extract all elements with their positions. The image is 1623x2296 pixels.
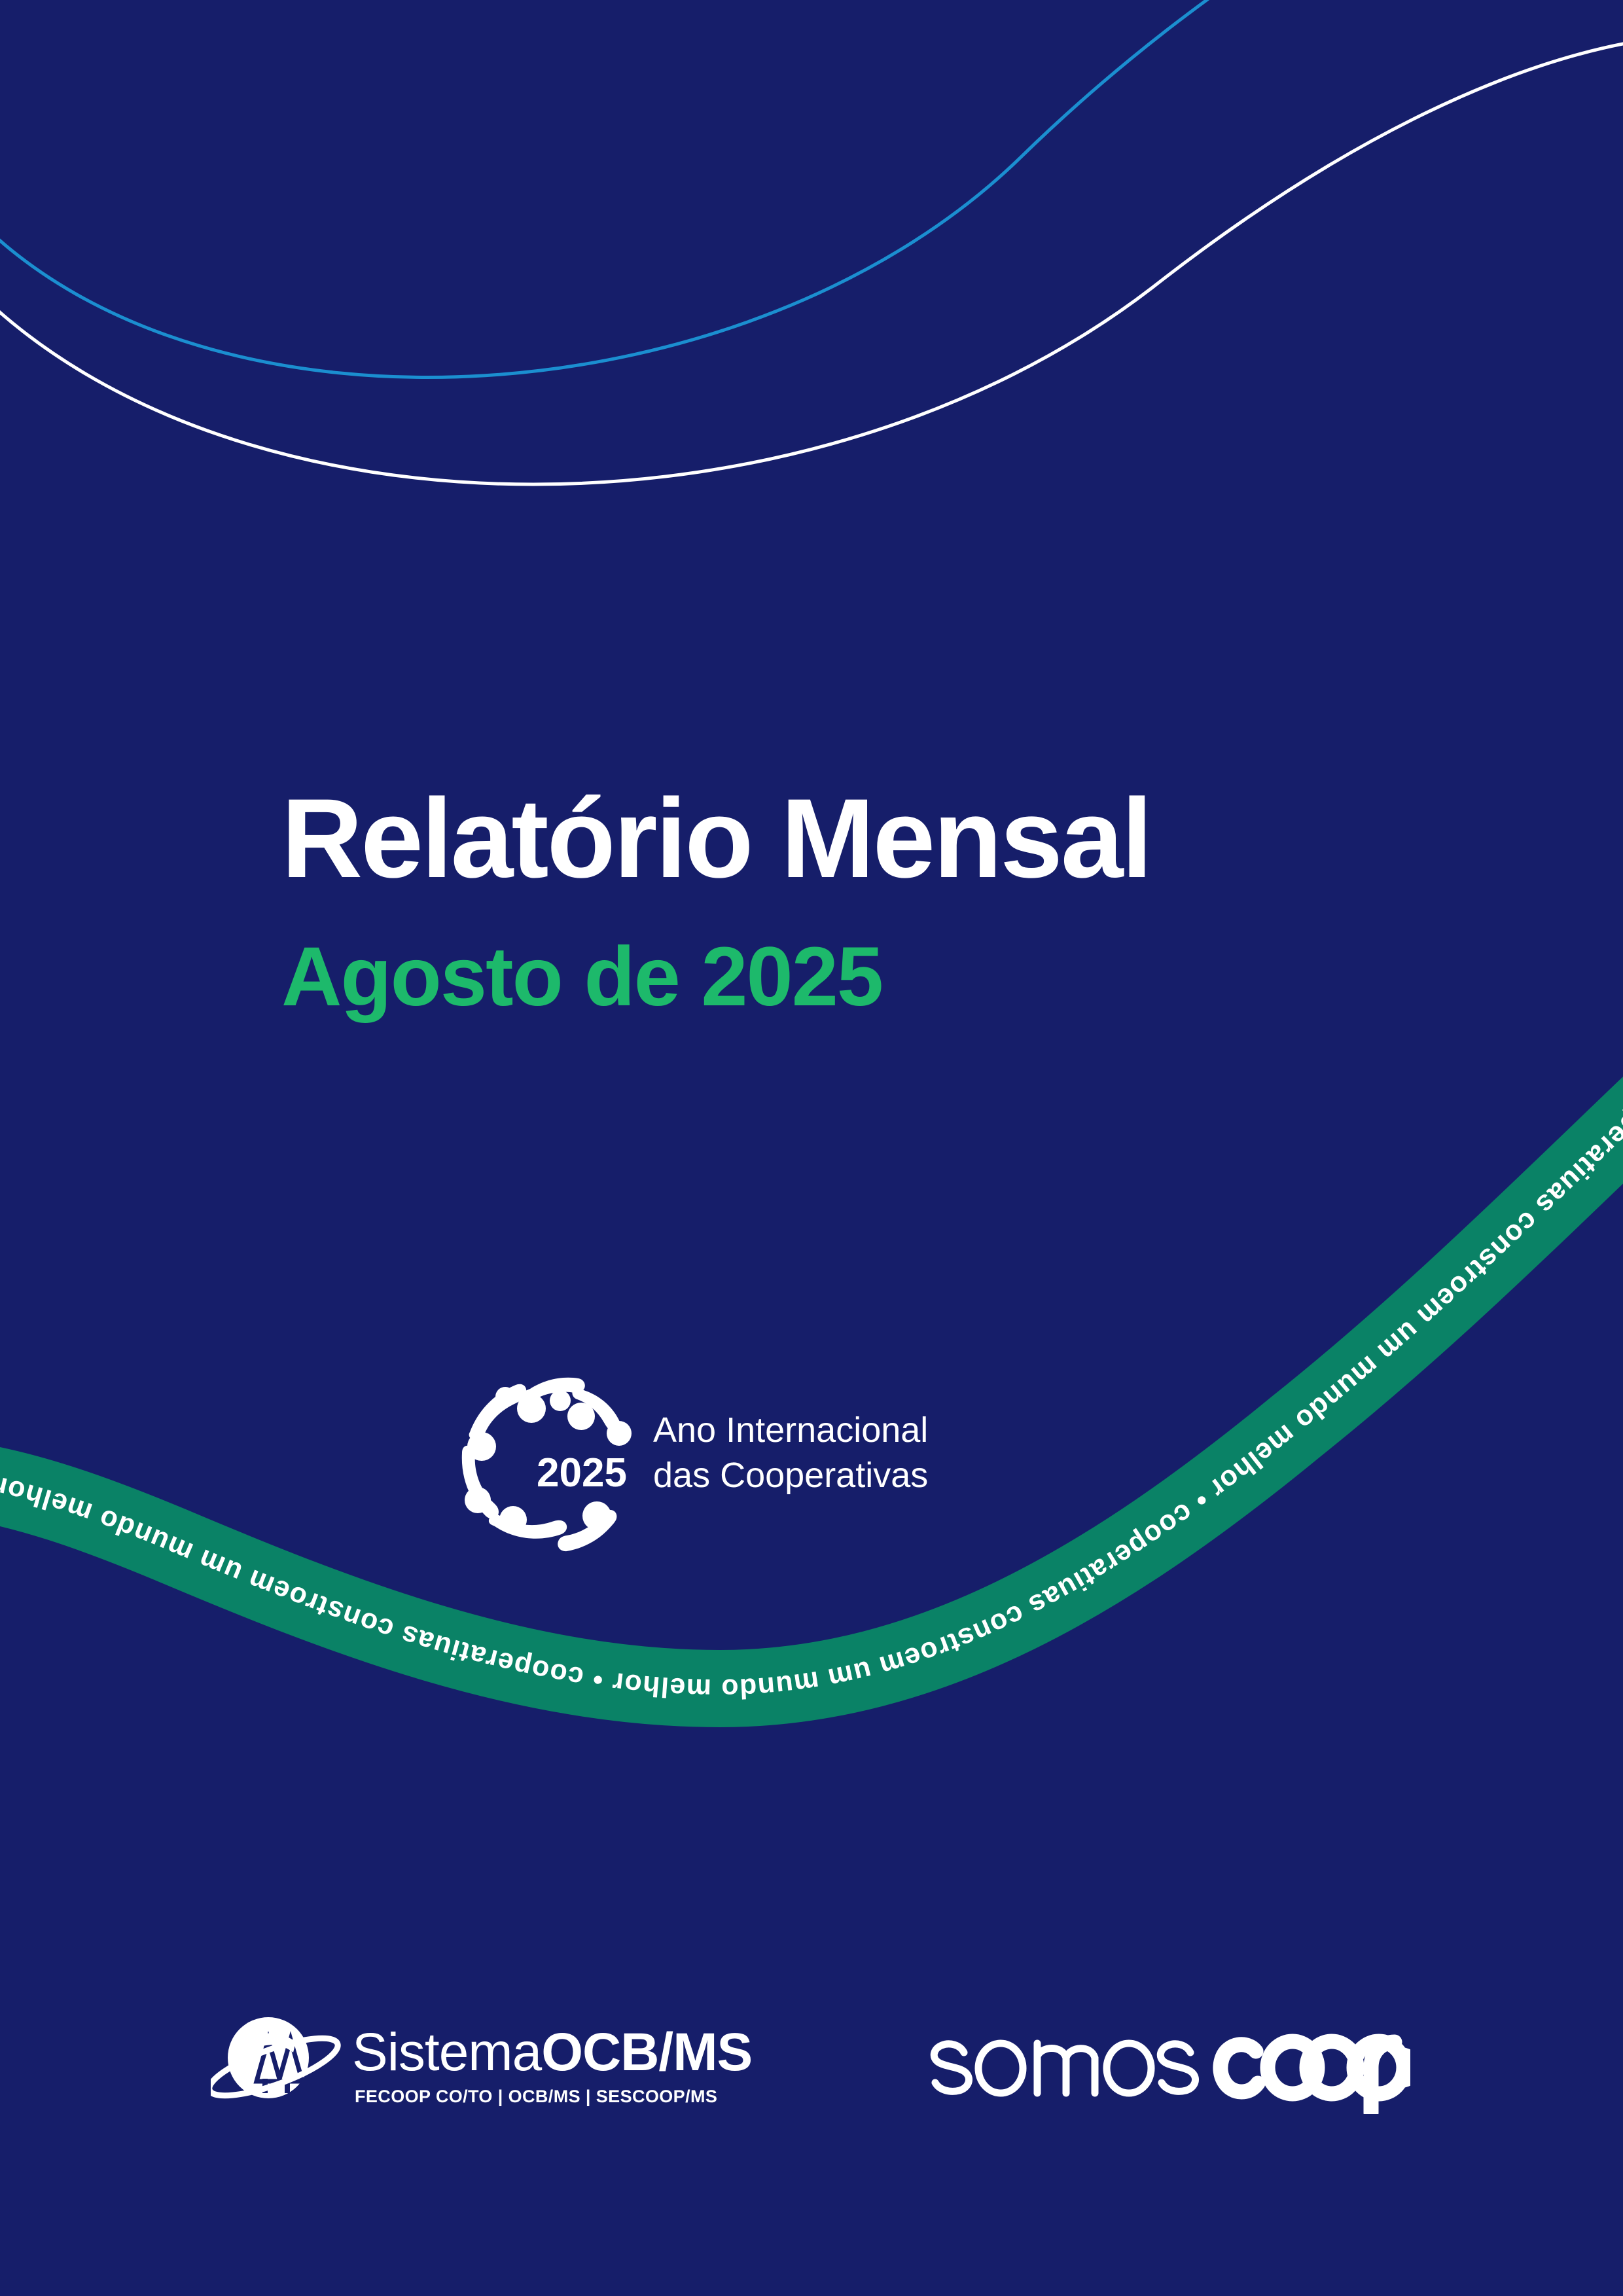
page-subtitle: Agosto de 2025 bbox=[281, 935, 1459, 1019]
title-block: Relatório Mensal Agosto de 2025 bbox=[281, 782, 1459, 1019]
iyc-wordmark: Ano Internacional das Cooperativas bbox=[653, 1408, 928, 1498]
ocb-wordmark: SistemaOCB/MS bbox=[352, 2026, 752, 2079]
sistema-ocb-ms-logo: SistemaOCB/MS FECOOP CO/TO | OCB/MS | SE… bbox=[211, 2011, 752, 2109]
iyc-line-1: Ano Internacional bbox=[653, 1408, 928, 1453]
white-curve bbox=[0, 39, 1623, 484]
iyc-logo: 2025 Ano Internacional das Cooperativas bbox=[432, 1348, 928, 1558]
cyan-curve bbox=[0, 0, 1348, 377]
ocb-tagline: FECOOP CO/TO | OCB/MS | SESCOOP/MS bbox=[352, 2087, 752, 2107]
page-title: Relatório Mensal bbox=[281, 782, 1459, 895]
footer-logos: SistemaOCB/MS FECOOP CO/TO | OCB/MS | SE… bbox=[0, 1996, 1623, 2193]
ocb-word-ocbms: OCB/MS bbox=[541, 2022, 752, 2082]
ocb-word-sistema: Sistema bbox=[352, 2022, 541, 2082]
somoscoop-logo bbox=[913, 2016, 1410, 2114]
ocb-text-block: SistemaOCB/MS FECOOP CO/TO | OCB/MS | SE… bbox=[352, 2026, 752, 2107]
ocb-planet-icon bbox=[211, 2011, 349, 2109]
report-cover-page: Relatório Mensal Agosto de 2025 cooperat… bbox=[0, 0, 1623, 2296]
iyc-c-mark-icon: 2025 bbox=[432, 1348, 641, 1558]
decorative-curves bbox=[0, 0, 1623, 497]
iyc-line-2: das Cooperativas bbox=[653, 1453, 928, 1498]
iyc-year: 2025 bbox=[537, 1453, 627, 1494]
